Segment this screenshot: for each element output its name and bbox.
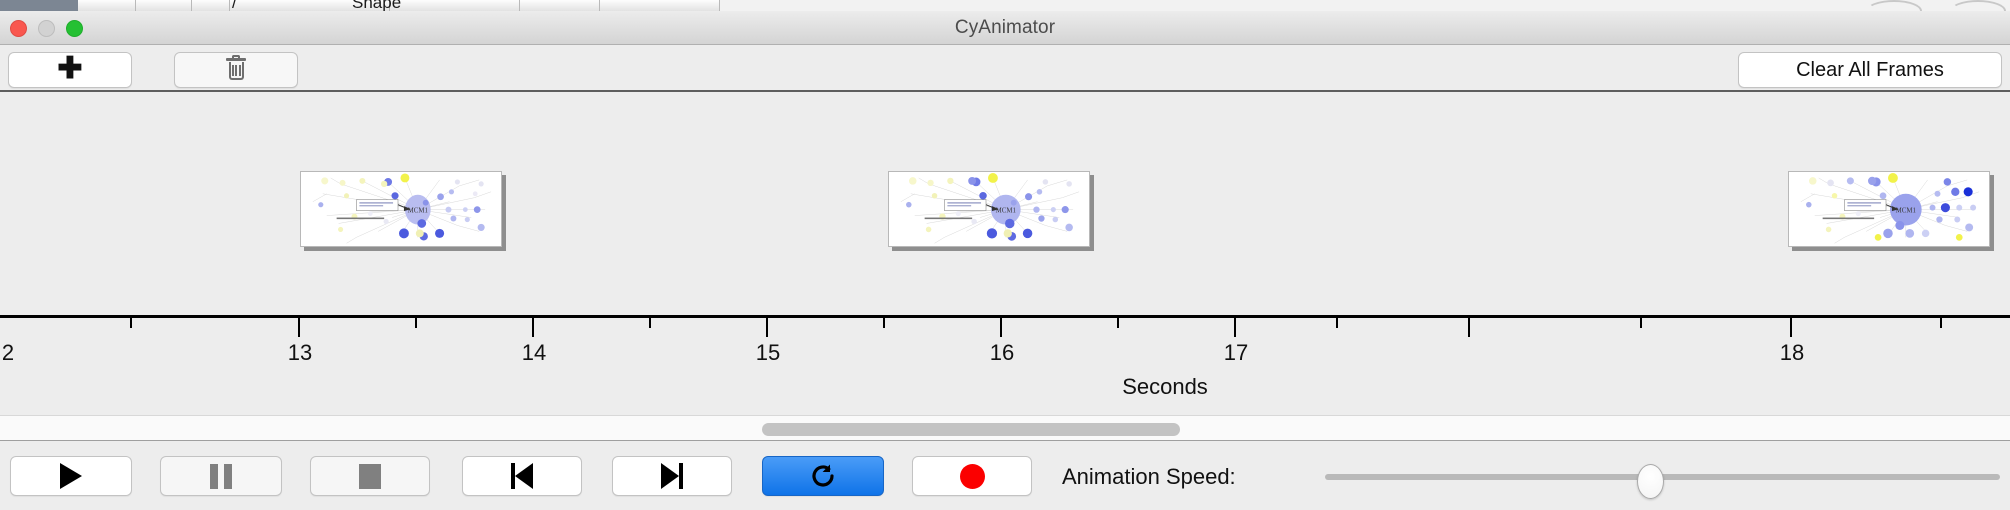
axis-tick-label: 13 xyxy=(288,340,312,366)
axis-tick-minor xyxy=(1640,318,1642,328)
pause-icon xyxy=(210,464,232,489)
previous-frame-button[interactable] xyxy=(462,456,582,496)
axis-tick-minor xyxy=(883,318,885,328)
background-segment xyxy=(390,0,520,11)
timeline-axis xyxy=(0,315,2010,318)
loop-button[interactable] xyxy=(762,456,884,496)
axis-tick-major xyxy=(298,318,300,337)
playback-bar: Animation Speed: xyxy=(0,442,2010,510)
network-thumbnail: MCM1 xyxy=(1789,172,1989,247)
trash-icon xyxy=(226,58,246,82)
cyanimator-window: / Shape CyAnimator ✚ Clear All Frames xyxy=(0,0,2010,510)
timeline-scrollbar[interactable] xyxy=(0,415,2010,441)
record-icon xyxy=(960,464,985,489)
animation-speed-label: Animation Speed: xyxy=(1062,464,1236,490)
skip-back-icon xyxy=(511,463,533,489)
background-window-titlebar xyxy=(0,0,78,11)
title-bar: CyAnimator xyxy=(0,11,2010,45)
axis-tick-major xyxy=(1468,318,1470,337)
timeline-frame[interactable]: MCM1 xyxy=(1788,171,1990,247)
axis-tick-minor xyxy=(1336,318,1338,328)
axis-tick-minor xyxy=(1117,318,1119,328)
background-arc xyxy=(1866,0,1922,11)
background-segment xyxy=(520,0,600,11)
network-thumbnail: MCM1 xyxy=(301,172,501,247)
timeline-frame[interactable]: MCM1 xyxy=(300,171,502,247)
scrollbar-thumb[interactable] xyxy=(762,423,1180,436)
axis-title: Seconds xyxy=(1122,374,1208,400)
background-label-z: / xyxy=(232,0,237,11)
toolbar: ✚ Clear All Frames xyxy=(0,45,2010,90)
axis-tick-minor xyxy=(415,318,417,328)
svg-text:MCM1: MCM1 xyxy=(996,208,1017,215)
background-segment xyxy=(192,0,230,11)
svg-text:MCM1: MCM1 xyxy=(1896,208,1917,215)
axis-tick-label: 2 xyxy=(2,340,14,366)
axis-tick-label: 15 xyxy=(756,340,780,366)
timeline-panel[interactable]: MCM1 xyxy=(0,90,2010,415)
play-button[interactable] xyxy=(10,456,132,496)
background-arc xyxy=(1950,0,2006,11)
axis-tick-label: 17 xyxy=(1224,340,1248,366)
record-button[interactable] xyxy=(912,456,1032,496)
next-frame-button[interactable] xyxy=(612,456,732,496)
background-segment xyxy=(136,0,192,11)
axis-tick-label: 14 xyxy=(522,340,546,366)
axis-tick-minor xyxy=(649,318,651,328)
background-window-label: Shape xyxy=(352,0,401,11)
animation-speed-slider-knob[interactable] xyxy=(1637,464,1664,499)
background-segment xyxy=(600,0,720,11)
stop-icon xyxy=(359,464,381,489)
axis-tick-label: 18 xyxy=(1780,340,1804,366)
clear-all-frames-button[interactable]: Clear All Frames xyxy=(1738,52,2002,88)
play-icon xyxy=(60,463,82,489)
timeline-frame[interactable]: MCM1 xyxy=(888,171,1090,247)
delete-frame-button[interactable] xyxy=(174,52,298,88)
window-title: CyAnimator xyxy=(0,17,2010,39)
network-thumbnail: MCM1 xyxy=(889,172,1089,247)
skip-forward-icon xyxy=(661,463,683,489)
add-frame-button[interactable]: ✚ xyxy=(8,52,132,88)
axis-tick-minor xyxy=(1940,318,1942,328)
background-window-strip: / Shape xyxy=(0,0,2010,11)
stop-button[interactable] xyxy=(310,456,430,496)
background-segment xyxy=(78,0,136,11)
axis-tick-major xyxy=(532,318,534,337)
plus-icon: ✚ xyxy=(57,54,82,84)
svg-text:MCM1: MCM1 xyxy=(408,208,429,215)
axis-tick-major xyxy=(1000,318,1002,337)
axis-tick-minor xyxy=(130,318,132,328)
pause-button[interactable] xyxy=(160,456,282,496)
axis-tick-major xyxy=(1234,318,1236,337)
axis-tick-major xyxy=(766,318,768,337)
axis-tick-label: 16 xyxy=(990,340,1014,366)
loop-icon xyxy=(809,462,837,490)
clear-all-frames-label: Clear All Frames xyxy=(1796,59,1944,82)
axis-tick-major xyxy=(1790,318,1792,337)
